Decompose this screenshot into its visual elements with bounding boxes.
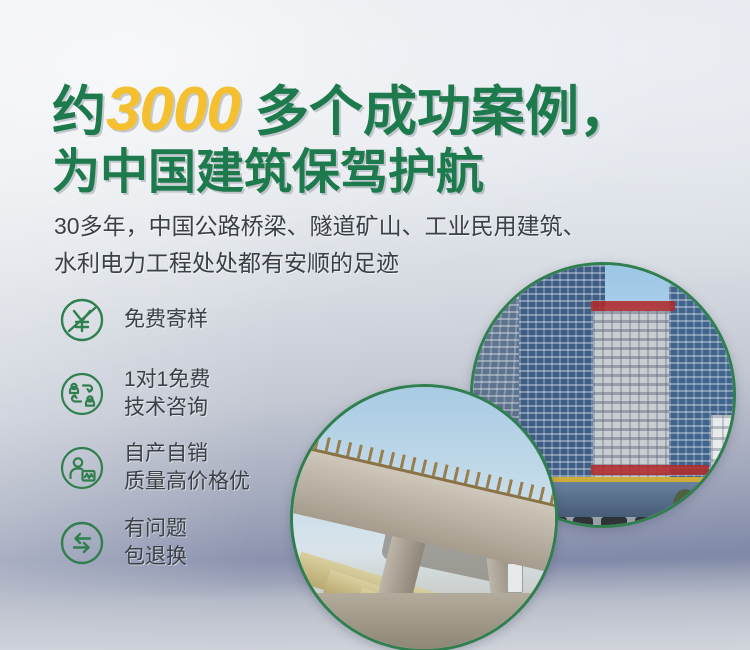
exchange-return-icon xyxy=(58,519,106,567)
car xyxy=(601,517,627,528)
headline-number: 3000 xyxy=(106,75,240,144)
podium-trim xyxy=(547,477,719,482)
headline-prefix: 约 xyxy=(52,82,106,142)
tree xyxy=(673,489,697,523)
rooftop-sign xyxy=(591,301,675,311)
feature-label-line: 有问题 xyxy=(124,515,187,543)
feature-label: 1对1免费 技术咨询 xyxy=(124,366,210,422)
headline-suffix: 多个成功案例， xyxy=(240,82,633,142)
feature-label-line: 免费寄样 xyxy=(124,306,208,334)
feature-label-line: 1对1免费 xyxy=(124,366,210,394)
headline-line-1: 约3000 多个成功案例， xyxy=(52,78,712,141)
headline: 约3000 多个成功案例， 为中国建筑保驾护航 xyxy=(52,78,712,198)
ground xyxy=(293,593,555,649)
vehicle-under-bridge xyxy=(507,563,523,593)
self-production-chart-icon xyxy=(58,444,106,492)
facade-sign xyxy=(591,465,709,475)
feature-label-line: 技术咨询 xyxy=(124,394,210,422)
promo-banner: 约3000 多个成功案例， 为中国建筑保驾护航 30多年，中国公路桥梁、隧道矿山… xyxy=(0,0,750,650)
subtitle-line-1: 30多年，中国公路桥梁、隧道矿山、工业民用建筑、 xyxy=(54,208,744,245)
one-to-one-consult-icon xyxy=(58,370,106,418)
bridge-photo xyxy=(290,384,558,650)
feature-label: 免费寄样 xyxy=(124,306,208,334)
feature-label: 有问题 包退换 xyxy=(124,515,187,571)
feature-label: 自产自销 质量高价格优 xyxy=(124,440,250,496)
feature-label-line: 质量高价格优 xyxy=(124,468,250,496)
headline-line-2: 为中国建筑保驾护航 xyxy=(52,149,712,198)
no-money-yuan-icon xyxy=(58,296,106,344)
feature-item-free-sample: 免费寄样 xyxy=(58,296,358,344)
feature-label-line: 自产自销 xyxy=(124,440,250,468)
bridge-photo-scene xyxy=(293,387,555,649)
feature-label-line: 包退换 xyxy=(124,543,187,571)
